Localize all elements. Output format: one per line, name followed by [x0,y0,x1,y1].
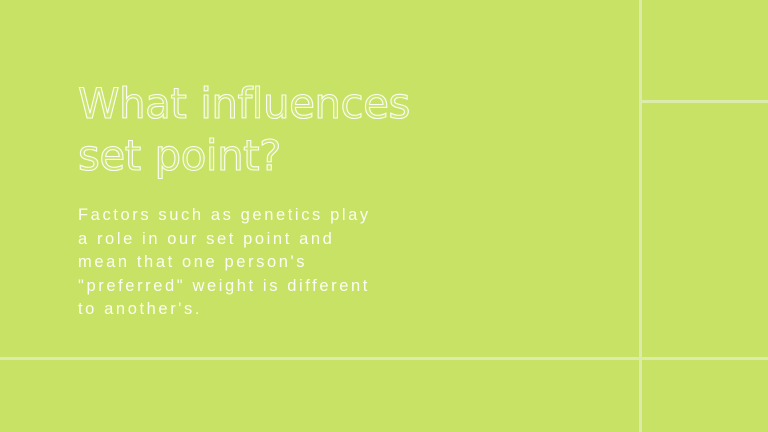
slide-title: What influences set point? [78,78,508,182]
horizontal-divider-line-upper [641,100,768,103]
vertical-divider-line [639,0,642,432]
slide-text-block: What influences set point? Factors such … [78,78,508,322]
slide-body-text: Factors such as genetics play a role in … [78,204,508,322]
presentation-slide: What influences set point? Factors such … [0,0,768,432]
horizontal-divider-line-lower [0,357,768,360]
